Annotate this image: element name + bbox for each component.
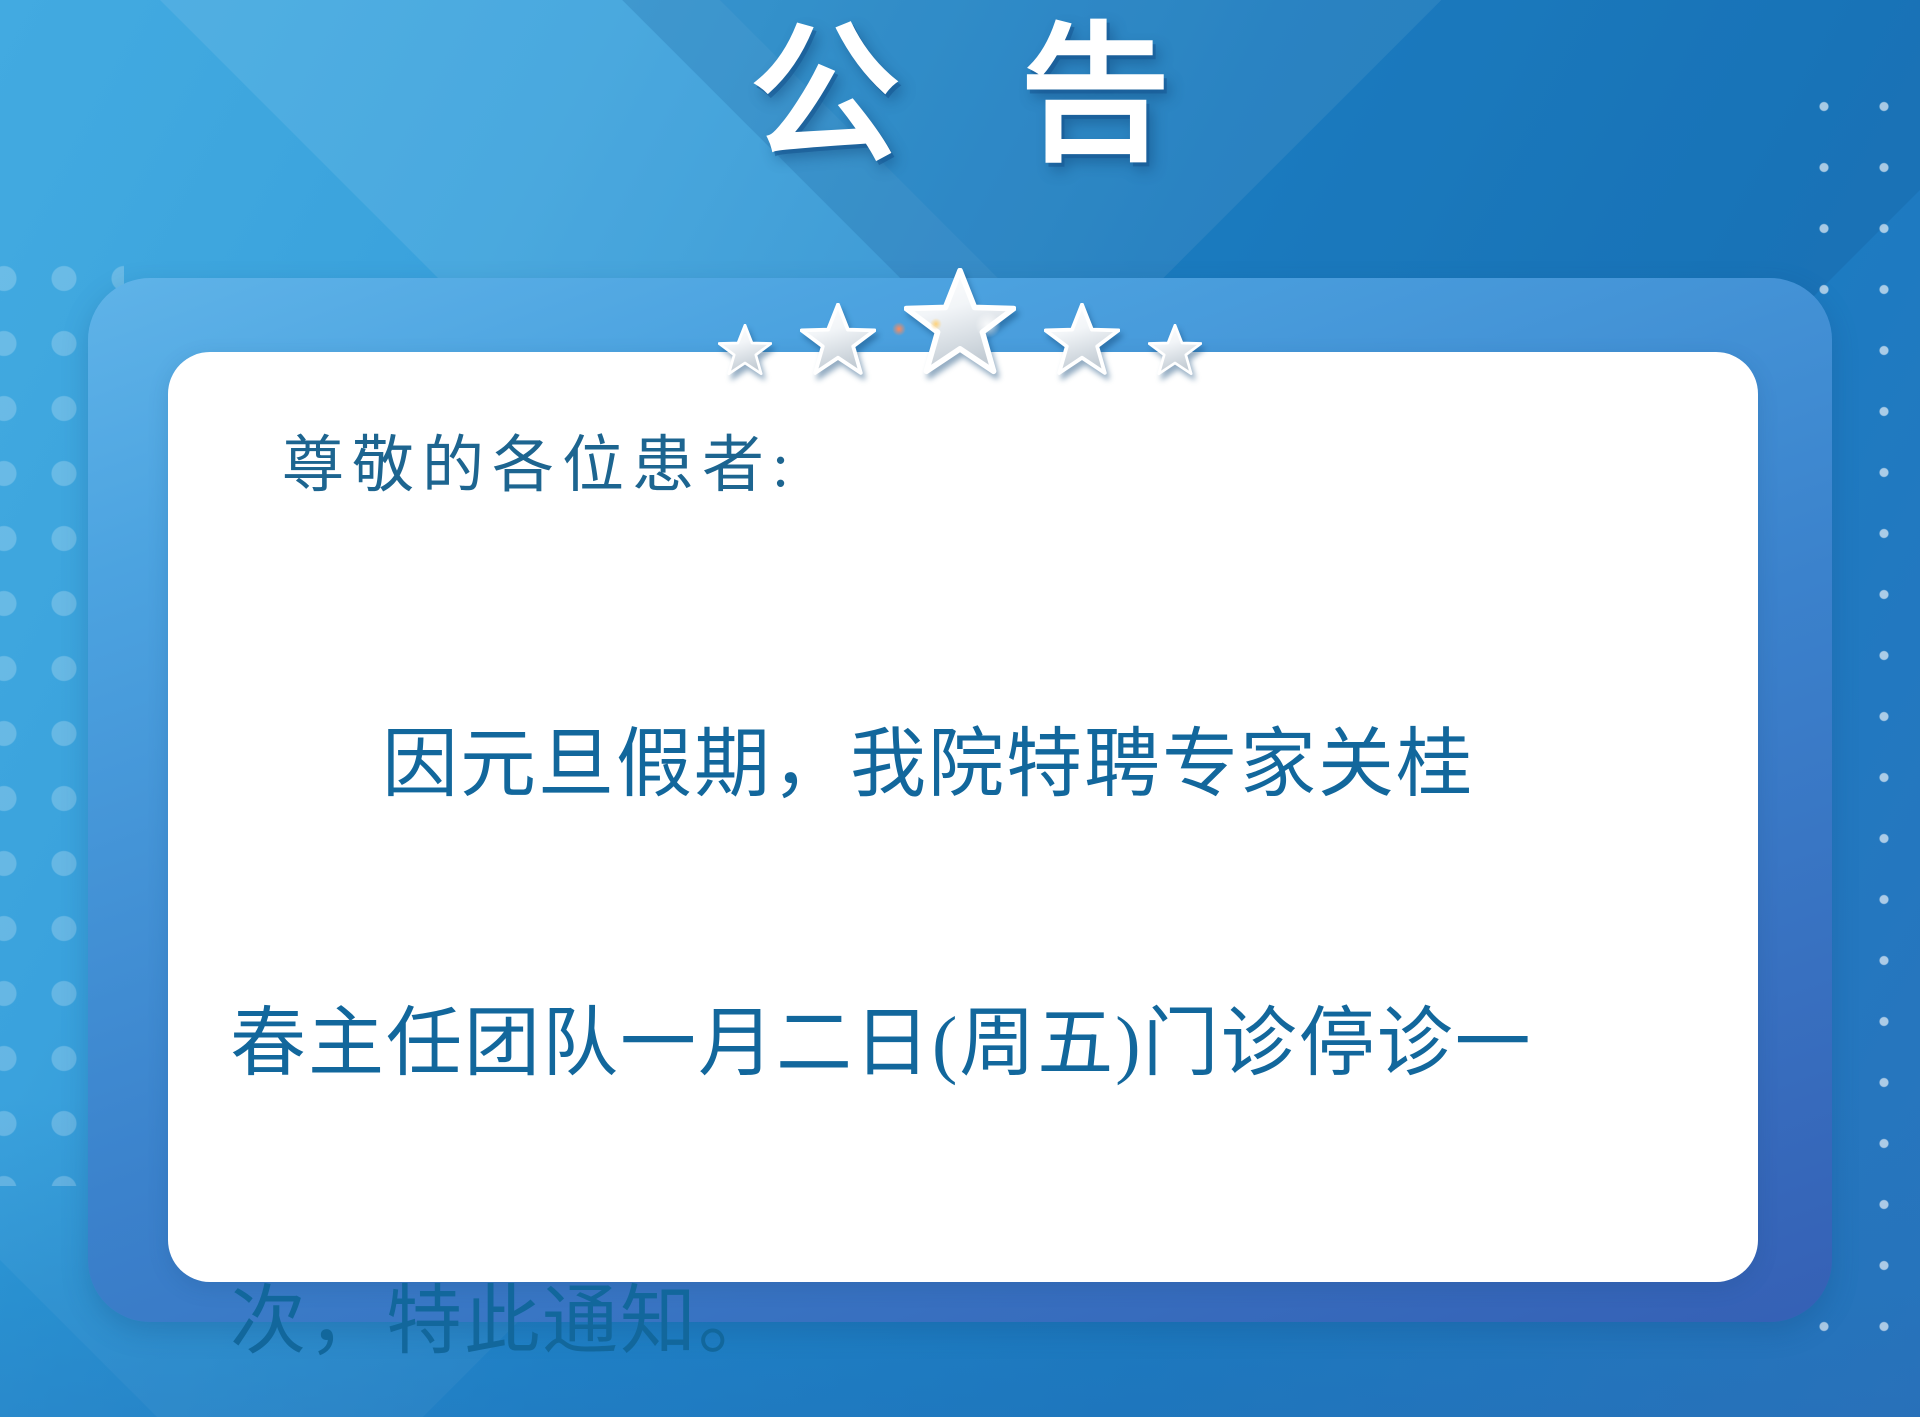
notice-paragraph-1-line-1: 因元旦假期，我院特聘专家关桂 bbox=[230, 719, 1686, 812]
notice-salutation: 尊敬的各位患者: bbox=[282, 414, 1686, 504]
sparkle-icon bbox=[892, 322, 906, 336]
sparkle-icon bbox=[930, 318, 942, 330]
sparkle-icon bbox=[975, 312, 1001, 338]
notice-paragraph-1-line-3: 次，特此通知。 bbox=[230, 1276, 1686, 1369]
poster-title: 公 告 bbox=[716, 8, 1204, 185]
announcement-poster: 公 告 bbox=[0, 0, 1920, 1417]
title-container: 公 告 bbox=[0, 8, 1920, 185]
notice-content: 尊敬的各位患者: 因元旦假期，我院特聘专家关桂 春主任团队一月二日(周五)门诊停… bbox=[168, 352, 1758, 1282]
notice-paragraph-1: 因元旦假期，我院特聘专家关桂 春主任团队一月二日(周五)门诊停诊一 次，特此通知… bbox=[230, 534, 1686, 1417]
notice-paragraph-1-line-2: 春主任团队一月二日(周五)门诊停诊一 bbox=[230, 998, 1686, 1091]
